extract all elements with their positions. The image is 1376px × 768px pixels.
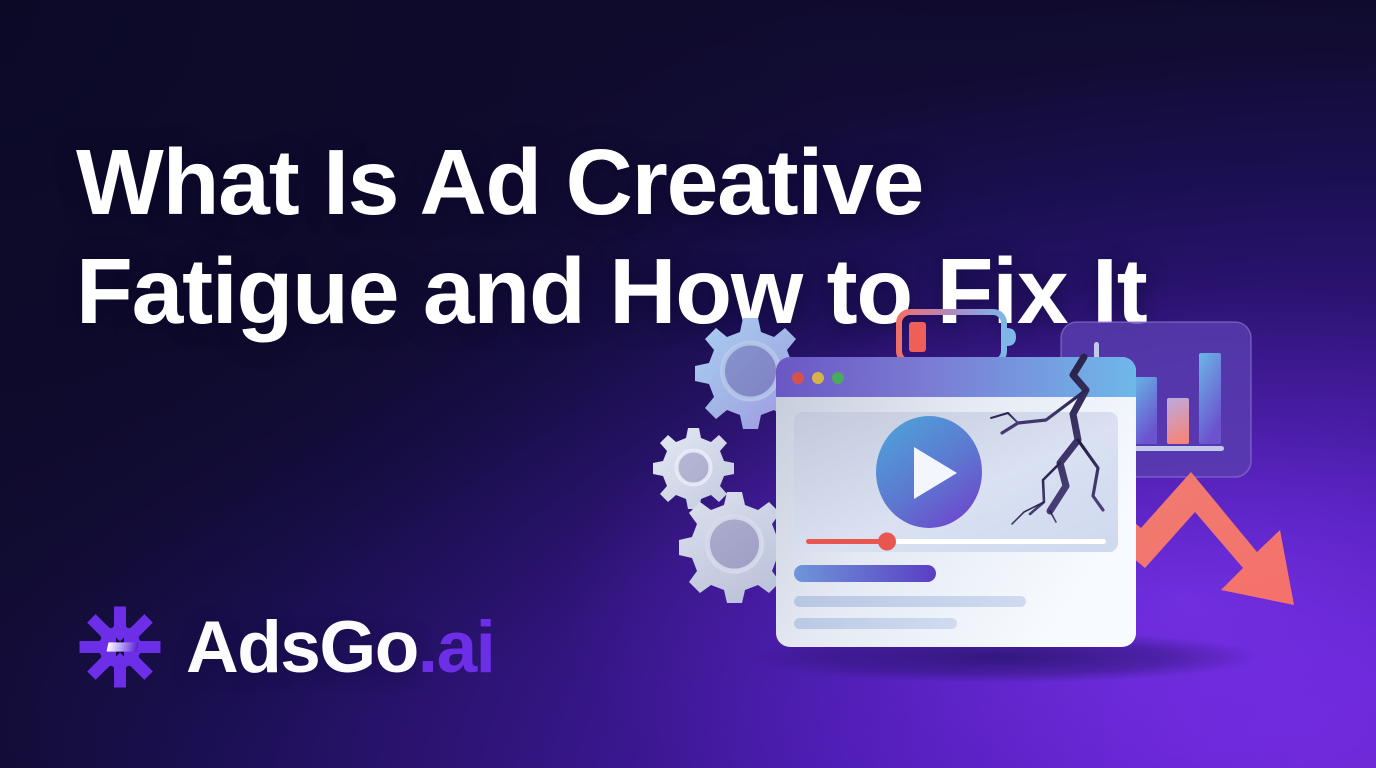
battery-charge-level — [909, 322, 926, 352]
brand-wordmark: AdsGo .ai — [186, 611, 494, 684]
bar-1 — [1135, 377, 1157, 444]
minimize-dot[interactable] — [812, 372, 824, 384]
bar-3 — [1199, 353, 1221, 444]
bar-2 — [1167, 398, 1189, 444]
gear-medium — [679, 492, 790, 603]
scrubber-handle — [878, 533, 896, 551]
scrubber-played — [806, 539, 884, 544]
brand-logo[interactable]: AdsGo .ai — [74, 601, 494, 693]
page-title-line-1: What Is Ad Creative — [76, 128, 1206, 237]
ad-creative-fatigue-illustration — [646, 300, 1346, 720]
low-battery-icon — [899, 312, 1016, 362]
brand-wordmark-main: AdsGo — [186, 611, 418, 684]
illustration-svg — [646, 300, 1346, 720]
headline-pill — [794, 565, 936, 582]
play-button[interactable] — [876, 416, 982, 528]
brand-wordmark-suffix: .ai — [418, 611, 495, 684]
blog-cover-canvas: What Is Ad Creative Fatigue and How to F… — [0, 0, 1376, 768]
maximize-dot[interactable] — [832, 372, 844, 384]
body-line-2 — [794, 618, 957, 629]
adsgo-asterisk-icon — [74, 601, 166, 693]
gear-small — [653, 428, 734, 509]
close-dot[interactable] — [792, 372, 804, 384]
body-line-1 — [794, 596, 1026, 607]
video-ad-preview-window[interactable] — [776, 357, 1136, 647]
